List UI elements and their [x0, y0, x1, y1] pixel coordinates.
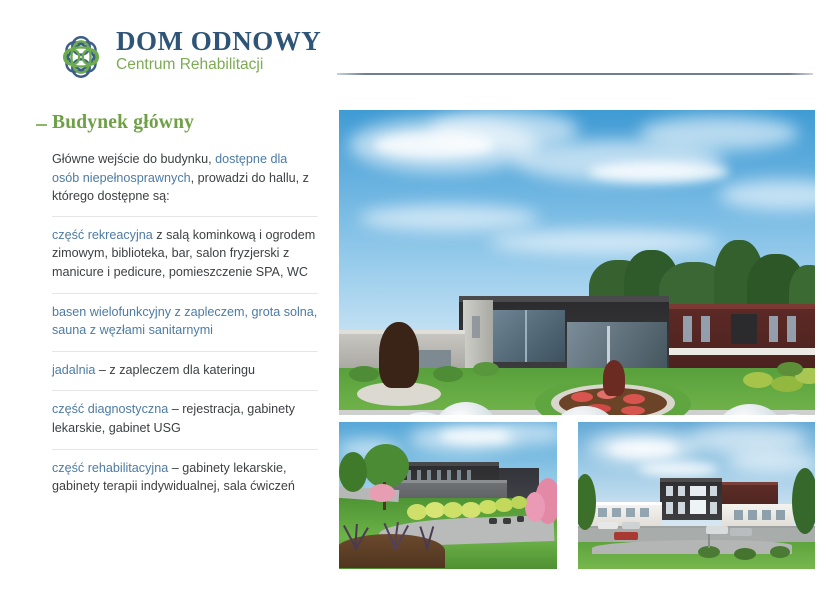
intro-paragraph: Główne wejście do budynku, dostępne dla … [52, 150, 314, 206]
building-side-view-render [339, 422, 557, 569]
brand-subtitle: Centrum Rehabilitacji [116, 56, 321, 73]
feature-list: część rekreacyjna z salą kominkową i ogr… [52, 216, 318, 497]
list-item: basen wielofunkcyjny z zapleczem, grota … [52, 294, 318, 341]
feature-rest: – z zapleczem dla kateringu [95, 363, 255, 377]
top-horizontal-rule [337, 73, 813, 75]
list-item: część rehabilitacyjna – gabinety lekarsk… [52, 450, 318, 497]
list-item: część rekreacyjna z salą kominkową i ogr… [52, 217, 318, 283]
feature-key: jadalnia [52, 363, 95, 377]
section-title-row: Budynek główny [36, 112, 326, 134]
brand-text: DOM ODNOWY Centrum Rehabilitacji [116, 27, 321, 73]
title-dash-icon [36, 124, 47, 126]
feature-key: część diagnostyczna [52, 402, 168, 416]
building-front-facade-render [578, 422, 815, 569]
feature-key: część rehabilitacyjna [52, 461, 168, 475]
brand-logo-block: DOM ODNOWY Centrum Rehabilitacji [52, 26, 322, 88]
list-item: część diagnostyczna – rejestracja, gabin… [52, 391, 318, 438]
feature-key: basen wielofunkcyjny z zapleczem, grota … [52, 305, 317, 338]
intro-text-part1: Główne wejście do budynku, [52, 152, 215, 166]
left-content-column: Budynek główny Główne wejście do budynku… [36, 112, 326, 497]
page-title: Budynek główny [52, 112, 194, 134]
feature-key: część rekreacyjna [52, 228, 153, 242]
list-item: jadalnia – z zapleczem dla kateringu [52, 352, 318, 381]
slide-canvas: DOM ODNOWY Centrum Rehabilitacji Budynek… [0, 0, 826, 593]
brand-name: DOM ODNOWY [116, 27, 321, 55]
four-petal-clover-logo [52, 28, 110, 86]
main-building-entrance-render [339, 110, 815, 415]
